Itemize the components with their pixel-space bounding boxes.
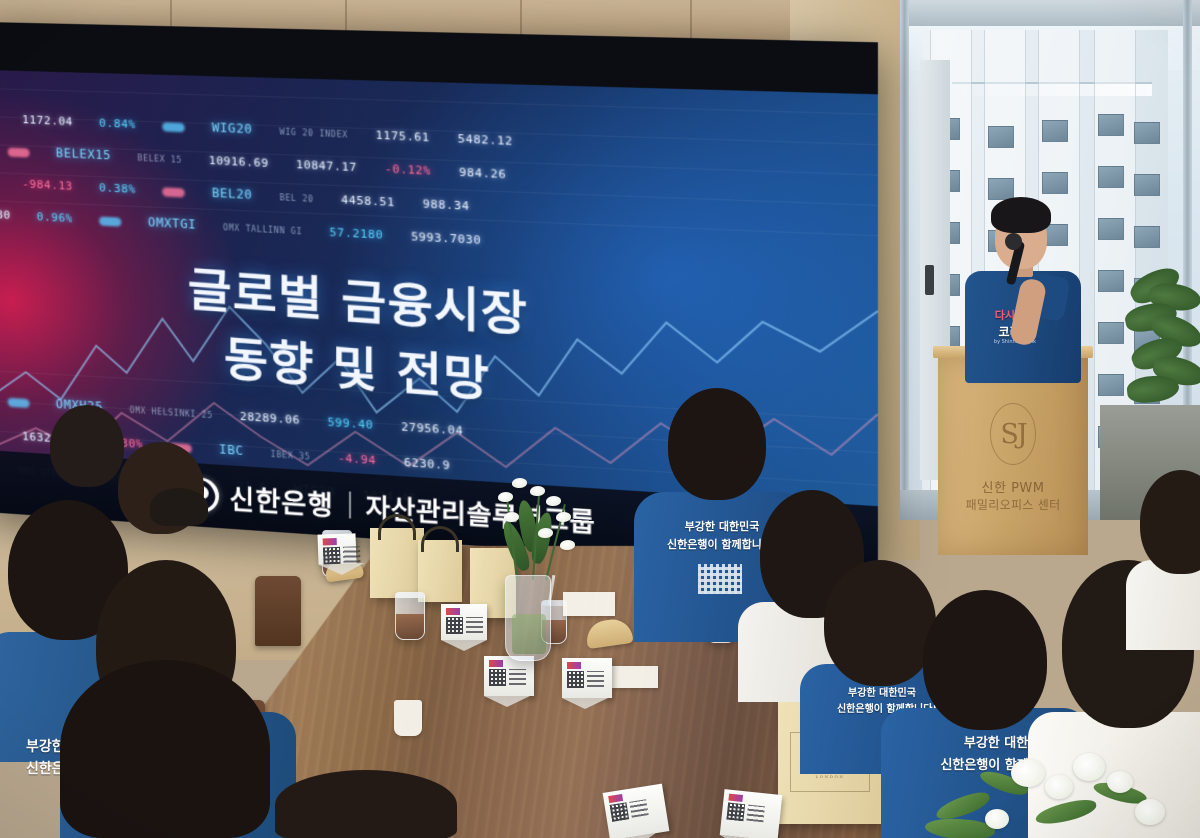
potted-plant: [1125, 270, 1200, 420]
brand-divider: [349, 491, 351, 518]
napkin: [563, 592, 615, 616]
tent-card-text: [746, 805, 765, 823]
tent-card-qr-icon: [567, 671, 584, 688]
drink-cup: [395, 592, 425, 640]
podium: SJ 신한 PWM 패밀리오피스 센터: [938, 355, 1088, 555]
tent-name-card: [562, 658, 612, 698]
attendee-front-left-4: [275, 770, 465, 838]
flower-bouquet: [925, 745, 1200, 838]
podium-venue-sublabel: 패밀리오피스 센터: [938, 496, 1088, 513]
tent-card-qr-icon: [726, 803, 745, 822]
tent-name-card: [441, 604, 487, 640]
cup-contents: [396, 614, 424, 639]
tent-name-card: [603, 784, 670, 838]
tent-name-card: [484, 656, 534, 696]
tent-card-badge: [323, 538, 337, 545]
speaker-presenter: 다시뛰자 코리아 by Shinhan Bank: [955, 195, 1085, 385]
tent-card-badge: [728, 794, 743, 802]
tent-card-qr-icon: [446, 617, 463, 634]
tent-name-card: [317, 533, 356, 564]
tent-card-text: [629, 799, 648, 817]
tent-card-text: [509, 669, 526, 685]
podium-venue-label: 신한 PWM: [938, 477, 1088, 496]
tent-card-qr-icon: [489, 669, 506, 686]
speaker-hair: [991, 197, 1051, 233]
attendee-front-left-3: [60, 660, 290, 838]
seminar-photo: 9934.831172.040.84%WIG20WIG 20 INDEX1175…: [0, 0, 1200, 838]
gift-bag: [370, 528, 424, 598]
tent-card-text: [466, 617, 483, 633]
tent-card-badge: [567, 662, 581, 669]
microphone-head-icon: [1005, 233, 1022, 250]
tent-card-badge: [446, 608, 460, 615]
tent-card-text: [343, 546, 361, 563]
gift-bag: [418, 540, 462, 602]
tent-card-qr-icon: [323, 547, 341, 565]
tent-name-card: [720, 789, 782, 838]
napkin: [612, 666, 658, 688]
tent-card-qr-icon: [610, 802, 629, 821]
door-handle[interactable]: [925, 265, 934, 295]
window-frame-top: [900, 0, 1200, 26]
podium-monogram-icon: SJ: [990, 403, 1036, 465]
tent-card-text: [587, 671, 604, 687]
tent-card-badge: [608, 794, 623, 803]
brand-name: 신한은행: [229, 478, 333, 523]
attendee-tee-qr-icon: [698, 564, 742, 594]
jo-malone-brand-sub: LONDON: [778, 774, 882, 779]
cup-dome-lid: [395, 592, 425, 598]
window-mullion: [900, 0, 909, 520]
tent-card-badge: [489, 660, 503, 667]
paper-cup: [394, 700, 422, 736]
glass-vase: [505, 575, 551, 661]
attendee-right-5: [1136, 470, 1200, 630]
